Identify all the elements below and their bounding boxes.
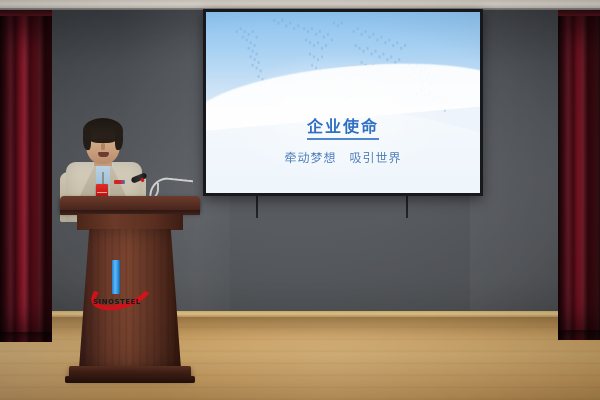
sinosteel-logo: SINOSTEEL <box>86 258 148 314</box>
speaker-hair-side-right <box>115 128 123 150</box>
speaker-mouth <box>98 152 109 157</box>
slide-subtitle: 牵动梦想 吸引世界 <box>206 149 480 166</box>
logo-swoosh-icon <box>87 267 158 317</box>
screen-support-bracket-left <box>256 196 258 218</box>
curtain-right-hem <box>558 330 600 340</box>
slide-title: 企业使命 <box>307 113 379 140</box>
slide-text-block: 企业使命 牵动梦想 吸引世界 <box>206 113 480 166</box>
curtain-left-hem <box>0 332 52 342</box>
speaker-eyebrows <box>91 134 115 135</box>
curtain-right <box>558 10 600 340</box>
projection-screen[interactable]: 企业使命 牵动梦想 吸引世界 <box>203 9 483 196</box>
badge-text-line <box>97 192 107 193</box>
screen-support-bracket-right <box>406 196 408 218</box>
logo-bar-icon <box>112 260 120 294</box>
jacket-logo-patch <box>114 180 125 184</box>
speaker-nose <box>101 143 105 150</box>
speaker-eye-left <box>92 137 98 139</box>
podium-neck <box>77 214 183 230</box>
speaker-hair-side-left <box>83 128 91 150</box>
logo-wordmark: SINOSTEEL <box>86 298 148 306</box>
screen-surface: 企业使命 牵动梦想 吸引世界 <box>206 12 480 193</box>
curtain-rod-right <box>558 10 600 16</box>
presentation-room-photo: 企业使命 牵动梦想 吸引世界 <box>0 0 600 400</box>
curtain-left <box>0 10 52 342</box>
curtain-rod-left <box>0 10 52 16</box>
podium-foot <box>65 376 195 383</box>
speaker-eye-right <box>108 137 114 139</box>
